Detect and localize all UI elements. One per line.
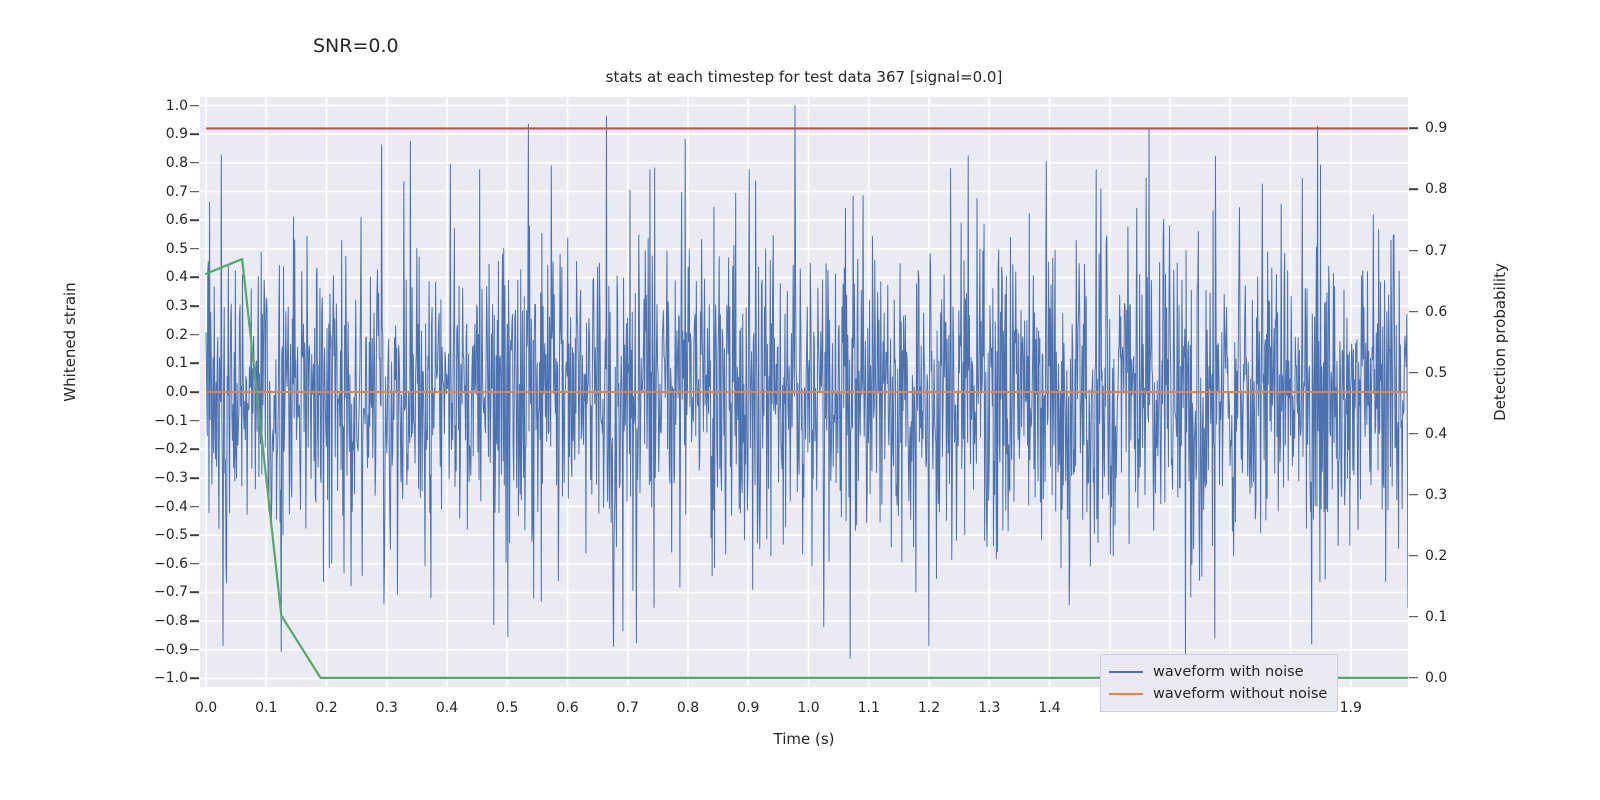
x-axis-tick-label: 0.0 <box>195 700 217 716</box>
y-axis-left-tick-label: 0.7 <box>166 184 188 200</box>
y-axis-right-tick-mark <box>1409 555 1418 557</box>
y-axis-left-tick-mark <box>190 305 199 307</box>
y-axis-left-tick-label: 0.3 <box>166 298 188 314</box>
y-axis-left-tick-mark <box>190 219 199 221</box>
x-axis-tick-label: 0.8 <box>677 700 699 716</box>
y-axis-right-tick-label: 0.6 <box>1425 304 1447 320</box>
y-axis-left-tick-mark <box>190 420 199 422</box>
y-axis-left-tick-mark <box>190 620 199 622</box>
y-axis-left-tick-label: 0.9 <box>166 126 188 142</box>
y-axis-left-tick-label: 0.0 <box>166 384 188 400</box>
y-axis-left-tick-label: 0.8 <box>166 155 188 171</box>
legend-entry[interactable]: waveform with noise <box>1109 661 1327 683</box>
y-axis-left-tick-mark <box>190 391 199 393</box>
y-axis-left-tick-label: 0.1 <box>166 355 188 371</box>
y-axis-left-tick-mark <box>190 649 199 651</box>
y-axis-left-tick-mark <box>190 162 199 164</box>
y-axis-right-tick-label: 0.9 <box>1425 120 1447 136</box>
y-axis-left-tick-label: −0.1 <box>154 413 188 429</box>
y-axis-left-tick-label: −0.4 <box>154 499 188 515</box>
x-axis-tick-label: 0.3 <box>376 700 398 716</box>
plot-svg <box>200 97 1408 687</box>
y-axis-left-tick-label: −0.3 <box>154 470 188 486</box>
y-axis-left-tick-mark <box>190 534 199 536</box>
y-axis-left-tick-label: −0.5 <box>154 527 188 543</box>
y-axis-right-label: Detection probability <box>1491 227 1509 457</box>
y-axis-right-tick-mark <box>1409 311 1418 313</box>
x-axis-tick-label: 0.5 <box>496 700 518 716</box>
y-axis-right-tick-label: 0.0 <box>1425 670 1447 686</box>
y-axis-right-tick-label: 0.2 <box>1425 548 1447 564</box>
y-axis-left-tick-mark <box>190 506 199 508</box>
y-axis-right-tick-label: 0.5 <box>1425 365 1447 381</box>
y-axis-left-tick-label: 0.4 <box>166 269 188 285</box>
y-axis-left-tick-mark <box>190 334 199 336</box>
y-axis-right-tick-mark <box>1409 128 1418 130</box>
x-axis-tick-label: 1.1 <box>858 700 880 716</box>
plot-area <box>200 97 1408 687</box>
x-axis-tick-label: 0.9 <box>737 700 759 716</box>
y-axis-left-tick-mark <box>190 678 199 680</box>
legend-color-swatch <box>1109 671 1143 674</box>
y-axis-right-tick-mark <box>1409 189 1418 191</box>
y-axis-right-tick-label: 0.4 <box>1425 426 1447 442</box>
legend-label: waveform without noise <box>1153 686 1327 702</box>
y-axis-left-tick-label: 0.6 <box>166 212 188 228</box>
y-axis-left-tick-label: −0.2 <box>154 441 188 457</box>
y-axis-left-tick-mark <box>190 448 199 450</box>
x-axis-tick-label: 1.4 <box>1038 700 1060 716</box>
x-axis-tick-label: 1.2 <box>918 700 940 716</box>
x-axis-tick-label: 0.4 <box>436 700 458 716</box>
x-axis-tick-label: 0.2 <box>315 700 337 716</box>
snr-annotation: SNR=0.0 <box>313 35 399 57</box>
y-axis-left-tick-label: −0.9 <box>154 642 188 658</box>
y-axis-right-tick-label: 0.7 <box>1425 243 1447 259</box>
y-axis-left-tick-mark <box>190 191 199 193</box>
legend-label: waveform with noise <box>1153 664 1304 680</box>
y-axis-left-tick-label: −0.8 <box>154 613 188 629</box>
y-axis-left-label: Whitened strain <box>61 242 79 442</box>
y-axis-left-tick-label: 0.2 <box>166 327 188 343</box>
y-axis-left-tick-mark <box>190 563 199 565</box>
y-axis-left-tick-mark <box>190 363 199 365</box>
x-axis-tick-label: 1.0 <box>797 700 819 716</box>
y-axis-right-tick-mark <box>1409 616 1418 618</box>
x-axis-tick-label: 0.7 <box>617 700 639 716</box>
y-axis-left-tick-label: 0.5 <box>166 241 188 257</box>
y-axis-left-tick-label: −0.6 <box>154 556 188 572</box>
legend: waveform with noisewaveform without nois… <box>1100 654 1338 712</box>
y-axis-left-tick-label: −0.7 <box>154 584 188 600</box>
y-axis-right-tick-mark <box>1409 372 1418 374</box>
y-axis-left-tick-mark <box>190 277 199 279</box>
y-axis-left-tick-label: −1.0 <box>154 670 188 686</box>
legend-color-swatch <box>1109 693 1143 696</box>
axes-title: stats at each timestep for test data 367… <box>200 68 1408 86</box>
y-axis-right-tick-mark <box>1409 677 1418 679</box>
figure-canvas: SNR=0.0 stats at each timestep for test … <box>0 0 1600 800</box>
x-axis-tick-label: 0.6 <box>556 700 578 716</box>
x-axis-tick-label: 1.9 <box>1340 700 1362 716</box>
y-axis-right-tick-label: 0.8 <box>1425 181 1447 197</box>
y-axis-right-tick-mark <box>1409 433 1418 435</box>
y-axis-right-tick-mark <box>1409 250 1418 252</box>
y-axis-left-tick-mark <box>190 592 199 594</box>
y-axis-left-tick-mark <box>190 248 199 250</box>
y-axis-right-tick-mark <box>1409 494 1418 496</box>
y-axis-right-tick-label: 0.1 <box>1425 609 1447 625</box>
y-axis-left-tick-mark <box>190 133 199 135</box>
x-axis-label: Time (s) <box>200 730 1408 748</box>
x-axis-tick-label: 1.3 <box>978 700 1000 716</box>
x-axis-tick-label: 0.1 <box>255 700 277 716</box>
legend-entry[interactable]: waveform without noise <box>1109 683 1327 705</box>
y-axis-left-tick-label: 1.0 <box>166 98 188 114</box>
y-axis-right-tick-label: 0.3 <box>1425 487 1447 503</box>
y-axis-left-tick-mark <box>190 477 199 479</box>
y-axis-left-tick-mark <box>190 105 199 107</box>
